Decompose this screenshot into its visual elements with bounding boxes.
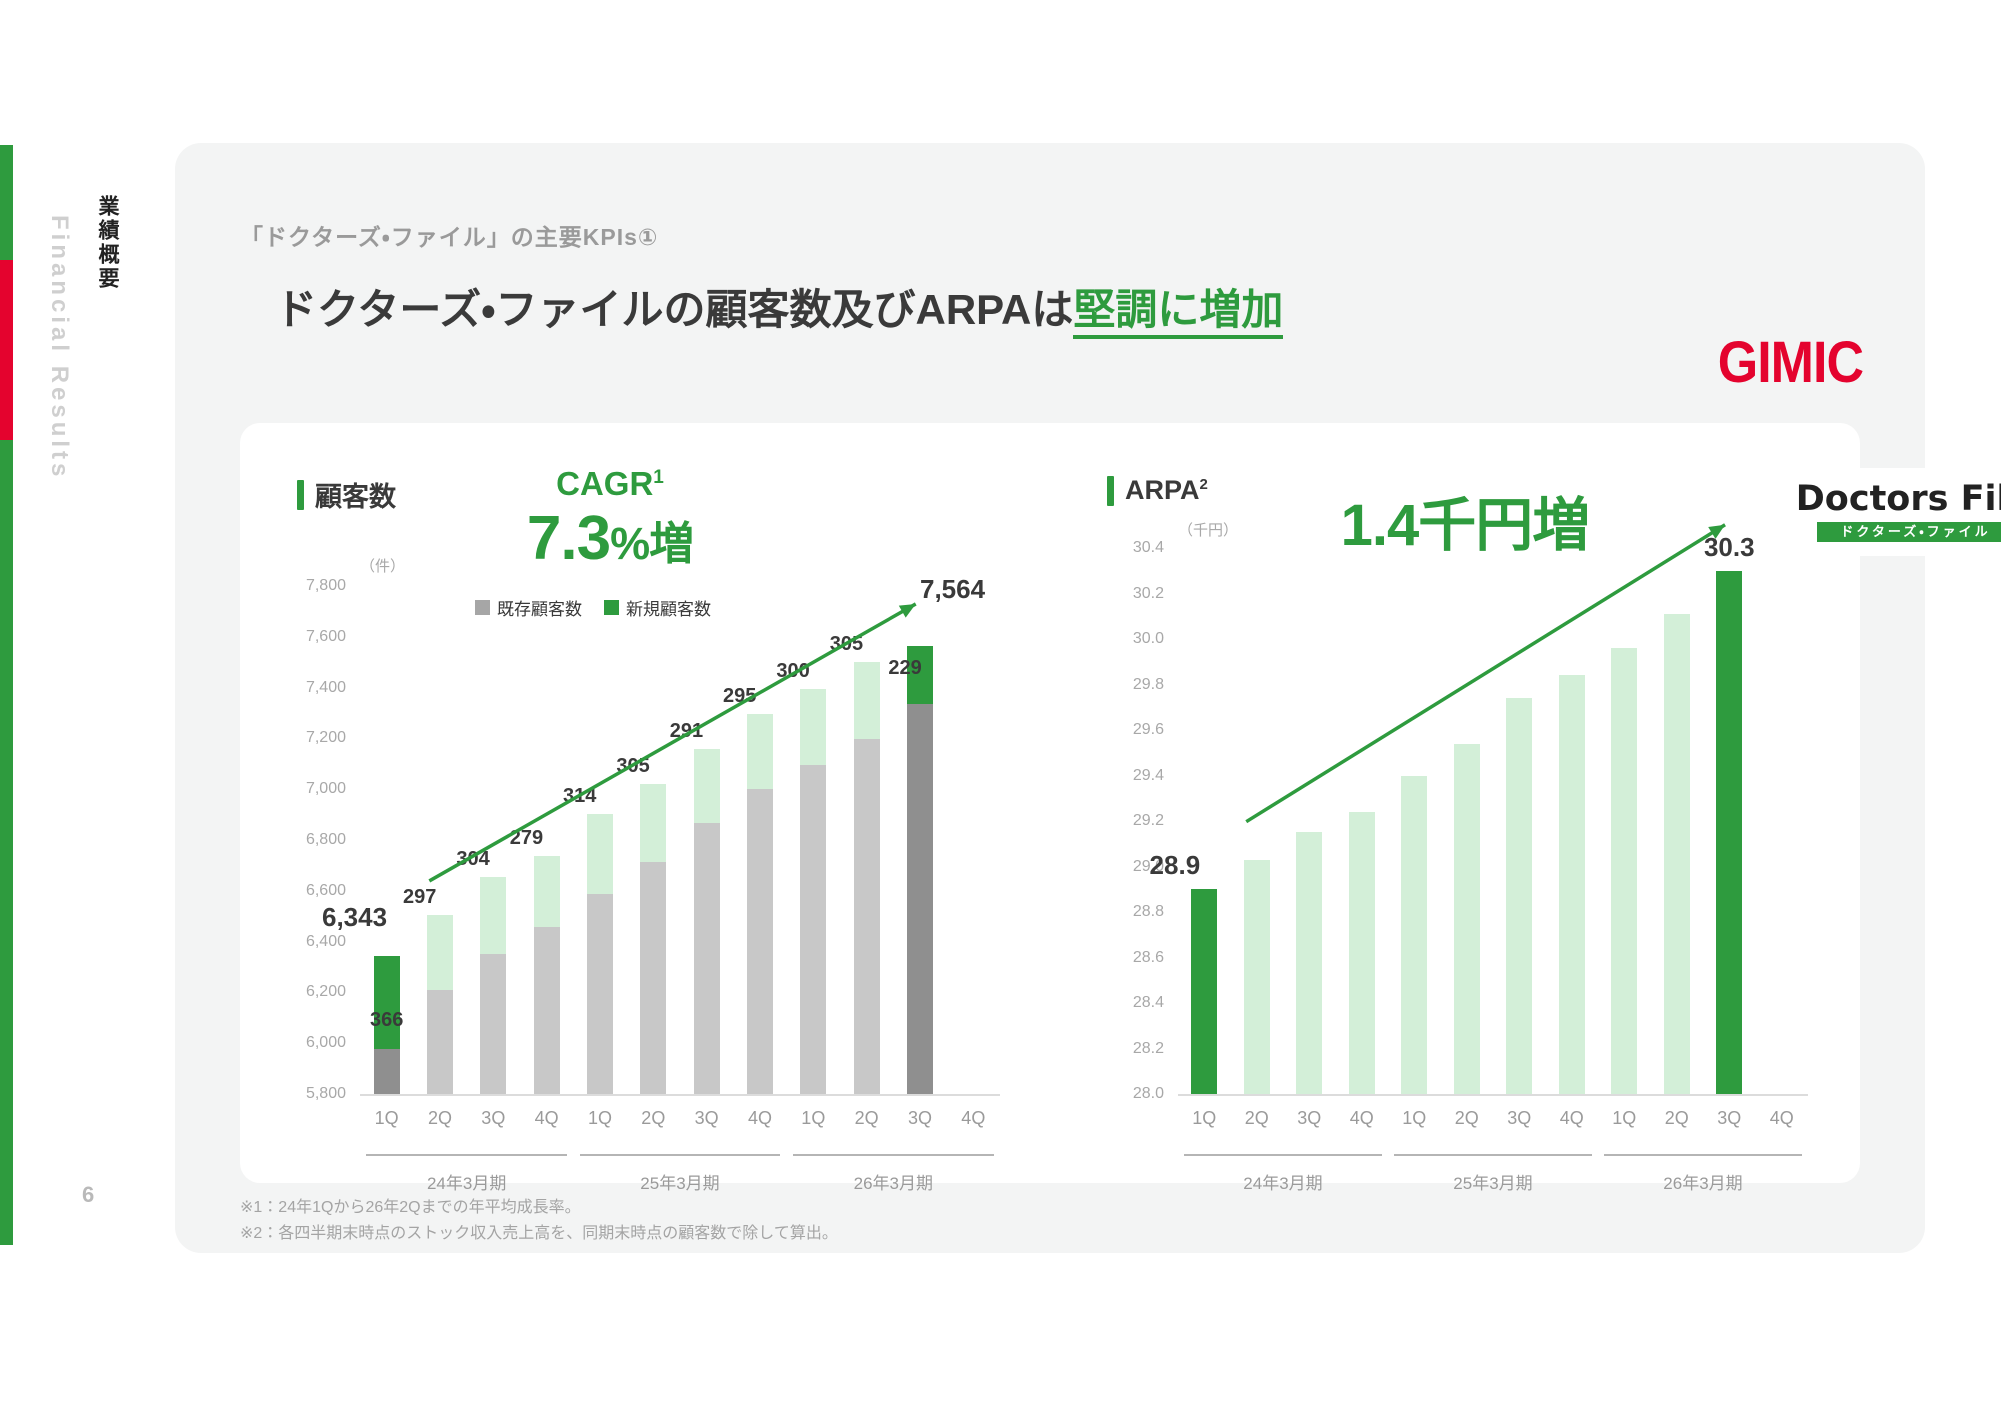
bar-segment-new-customers	[800, 689, 826, 765]
fiscal-year-group: 26年3月期	[1604, 1154, 1801, 1194]
y-axis-tick: 30.0	[1133, 630, 1178, 648]
y-axis-tick: 28.0	[1133, 1085, 1178, 1103]
y-axis-tick: 29.2	[1133, 812, 1178, 830]
bar-data-label: 295	[723, 685, 756, 708]
y-axis-tick: 30.2	[1133, 585, 1178, 603]
bar[interactable]	[1559, 675, 1585, 1094]
bar-slot[interactable]: 1Q	[1388, 548, 1441, 1094]
bar-segment-existing-customers	[534, 927, 560, 1094]
y-axis-tick: 28.6	[1133, 949, 1178, 967]
bar-segment-new-customers	[694, 749, 720, 823]
y-axis-tick: 29.6	[1133, 721, 1178, 739]
arpa-heading-superscript: 2	[1200, 476, 1208, 493]
bar-data-label: 304	[456, 848, 489, 871]
doctors-file-logo-subtitle: ドクターズ・ファイル	[1817, 522, 2001, 542]
bar-segment-existing-customers	[374, 1049, 400, 1094]
y-axis-tick: 6,800	[306, 831, 360, 849]
bar-segment-existing-customers	[640, 862, 666, 1094]
sidebar-section-title-en: Financial Results	[45, 215, 73, 480]
bar-segment-existing-customers	[854, 739, 880, 1094]
cagr-label-superscript: 1	[653, 467, 664, 488]
y-axis-tick: 5,800	[306, 1085, 360, 1103]
bar-slot[interactable]: 30.33Q	[1703, 548, 1756, 1094]
stacked-bar[interactable]	[800, 689, 826, 1094]
stacked-bar[interactable]	[854, 662, 880, 1094]
total-value-label: 7,564	[920, 574, 985, 605]
stacked-bar[interactable]	[694, 749, 720, 1094]
bar-segment-new-customers	[587, 814, 613, 894]
bar-segment-existing-customers	[747, 789, 773, 1094]
bar-slot[interactable]: 4Q	[1546, 548, 1599, 1094]
cagr-label: CAGR1	[480, 465, 740, 503]
x-axis-tick: 4Q	[535, 1108, 559, 1129]
bar[interactable]	[1191, 889, 1217, 1094]
y-axis-tick: 29.4	[1133, 767, 1178, 785]
bar-segment-existing-customers	[587, 894, 613, 1094]
bar-data-label: 291	[670, 720, 703, 743]
x-axis-tick: 1Q	[375, 1108, 399, 1129]
bar-segment-existing-customers	[694, 823, 720, 1094]
fiscal-year-rule	[366, 1154, 567, 1156]
fiscal-year-label: 24年3月期	[1184, 1169, 1381, 1194]
y-axis-tick: 28.8	[1133, 903, 1178, 921]
bar-data-label: 28.9	[1150, 850, 1201, 881]
customer-count-chart: 顧客数 CAGR1 7.3%増 既存顧客数 新規顧客数 （件） 7,8007,6…	[240, 423, 1050, 1183]
y-axis-tick: 7,600	[306, 628, 360, 646]
bar[interactable]	[1401, 776, 1427, 1095]
stacked-bar[interactable]	[480, 877, 506, 1094]
bar-slot[interactable]: 4Q	[1336, 548, 1389, 1094]
bar-data-label: 305	[616, 755, 649, 778]
y-axis-tick: 7,400	[306, 679, 360, 697]
x-axis-tick: 2Q	[1665, 1108, 1689, 1129]
arpa-chart: ARPA2 1.4千円増 （千円） 30.430.230.029.829.629…	[1050, 423, 1860, 1183]
x-axis-tick: 2Q	[641, 1108, 665, 1129]
bar-slot[interactable]: 2293Q	[893, 586, 946, 1094]
cagr-value-suffix: %増	[610, 518, 693, 569]
bar[interactable]	[1716, 571, 1742, 1094]
x-axis-tick: 2Q	[1245, 1108, 1269, 1129]
bar[interactable]	[1664, 614, 1690, 1094]
arpa-unit-label: （千円）	[1178, 519, 1238, 540]
x-axis-tick: 2Q	[1455, 1108, 1479, 1129]
fiscal-year-label: 26年3月期	[1604, 1169, 1801, 1194]
x-axis-tick: 1Q	[1402, 1108, 1426, 1129]
fiscal-year-rule	[1184, 1154, 1381, 1156]
bar-slot[interactable]: 2972Q	[413, 586, 466, 1094]
accent-segment-green-bottom	[0, 440, 13, 1245]
bar-slot[interactable]: 2794Q	[520, 586, 573, 1094]
bar-data-label: 297	[403, 886, 436, 909]
page-number: 6	[82, 1182, 94, 1208]
customer-count-heading: 顧客数	[297, 475, 396, 514]
bar-data-label: 300	[776, 660, 809, 683]
sidebar-section-title-jp: 業績概要	[92, 195, 122, 291]
x-axis-tick: 3Q	[908, 1108, 932, 1129]
fiscal-year-group: 26年3月期	[793, 1154, 994, 1194]
fiscal-year-group: 24年3月期	[1184, 1154, 1381, 1194]
x-axis-tick: 1Q	[588, 1108, 612, 1129]
x-axis-tick: 3Q	[695, 1108, 719, 1129]
bar-segment-new-customers	[640, 784, 666, 861]
stacked-bar[interactable]	[534, 856, 560, 1094]
bar-segment-existing-customers	[427, 990, 453, 1094]
charts-panel: 顧客数 CAGR1 7.3%増 既存顧客数 新規顧客数 （件） 7,8007,6…	[240, 423, 1860, 1183]
bar[interactable]	[1454, 744, 1480, 1094]
x-axis-tick: 4Q	[1770, 1108, 1794, 1129]
bar-slot[interactable]: 2Q	[1651, 548, 1704, 1094]
slide-eyebrow: 「ドクターズ・ファイル」の主要KPIs①	[240, 218, 658, 252]
y-axis-tick: 30.4	[1133, 539, 1178, 557]
fiscal-year-rule	[1394, 1154, 1591, 1156]
bar-segment-existing-customers	[800, 765, 826, 1094]
heading-tick-icon	[297, 480, 304, 510]
cagr-value: 7.3%増	[455, 503, 765, 574]
bar-slot[interactable]: 3001Q	[787, 586, 840, 1094]
fiscal-year-label: 25年3月期	[1394, 1169, 1591, 1194]
bar-data-label: 314	[563, 785, 596, 808]
x-axis-tick: 3Q	[481, 1108, 505, 1129]
bar-slot[interactable]: 2Q	[1441, 548, 1494, 1094]
x-axis-tick: 4Q	[748, 1108, 772, 1129]
arpa-heading-label: ARPA2	[1125, 475, 1208, 506]
stacked-bar[interactable]	[747, 714, 773, 1094]
bar[interactable]	[1506, 698, 1532, 1094]
bar-slot[interactable]: 28.91Q	[1178, 548, 1231, 1094]
bar-segment-existing-customers	[907, 704, 933, 1094]
x-axis-tick: 1Q	[1192, 1108, 1216, 1129]
bar-slot[interactable]: 3052Q	[840, 586, 893, 1094]
bar-slot[interactable]: 2Q	[1231, 548, 1284, 1094]
customer-count-unit-label: （件）	[360, 555, 405, 576]
accent-segment-green-top	[0, 145, 13, 260]
page-title-highlight: 堅調に増加	[1073, 286, 1283, 339]
cagr-label-text: CAGR	[556, 465, 653, 502]
bar-slot[interactable]: 3052Q	[627, 586, 680, 1094]
bar-slot[interactable]: 3141Q	[573, 586, 626, 1094]
x-axis-tick: 2Q	[855, 1108, 879, 1129]
fiscal-year-label: 26年3月期	[793, 1169, 994, 1194]
x-axis-tick: 1Q	[1612, 1108, 1636, 1129]
bar-slot[interactable]: 3Q	[1283, 548, 1336, 1094]
fiscal-year-rule	[793, 1154, 994, 1156]
fiscal-year-rule	[580, 1154, 781, 1156]
x-axis-tick: 3Q	[1297, 1108, 1321, 1129]
fiscal-year-label: 25年3月期	[580, 1169, 781, 1194]
y-axis-tick: 28.4	[1133, 994, 1178, 1012]
total-value-label: 6,343	[322, 902, 387, 933]
customer-count-plot: 7,8007,6007,4007,2007,0006,8006,6006,400…	[360, 586, 1000, 1096]
fiscal-year-rule	[1604, 1154, 1801, 1156]
arpa-heading: ARPA2	[1107, 475, 1208, 506]
doctors-file-logo-title: Doctors File	[1796, 482, 2001, 517]
footnotes: ※1：24年1Qから26年2Qまでの年平均成長率。 ※2：各四半期末時点のストッ…	[240, 1195, 838, 1248]
bar-slot[interactable]: 2913Q	[680, 586, 733, 1094]
heading-tick-icon	[1107, 476, 1114, 506]
arpa-heading-text: ARPA	[1125, 475, 1200, 505]
bar-data-label: 305	[830, 633, 863, 656]
bar-segment-new-customers	[427, 915, 453, 990]
y-axis-tick: 29.8	[1133, 676, 1178, 694]
bar[interactable]	[1244, 860, 1270, 1094]
y-axis-tick: 6,400	[306, 933, 360, 951]
y-axis-tick: 6,600	[306, 882, 360, 900]
bar-segment-new-customers	[747, 714, 773, 789]
fiscal-year-label: 24年3月期	[366, 1169, 567, 1194]
y-axis-tick: 7,800	[306, 577, 360, 595]
footnote-2: ※2：各四半期末時点のストック収入売上高を、同期末時点の顧客数で除して算出。	[240, 1221, 838, 1247]
y-axis-tick: 7,200	[306, 729, 360, 747]
y-axis-tick: 7,000	[306, 780, 360, 798]
slide-card: 「ドクターズ・ファイル」の主要KPIs① ドクターズ・ファイルの顧客数及びARP…	[175, 143, 1925, 1253]
bar[interactable]	[1349, 812, 1375, 1094]
bar-data-label: 229	[888, 657, 921, 680]
bar-data-label: 279	[510, 827, 543, 850]
stacked-bar[interactable]	[640, 784, 666, 1094]
bar-segment-new-customers	[854, 662, 880, 739]
stacked-bar[interactable]	[907, 646, 933, 1094]
footnote-1: ※1：24年1Qから26年2Qまでの年平均成長率。	[240, 1195, 838, 1221]
stacked-bar[interactable]	[427, 915, 453, 1094]
bar-data-label: 366	[370, 1009, 403, 1032]
bar-slot[interactable]: 3Q	[1493, 548, 1546, 1094]
customer-count-heading-label: 顧客数	[315, 475, 396, 514]
bar-segment-new-customers	[374, 956, 400, 1049]
accent-segment-red	[0, 260, 13, 440]
y-axis-tick: 28.2	[1133, 1040, 1178, 1058]
doctors-file-logo: Doctors File ドクターズ・ファイル	[1775, 468, 2001, 556]
bar-segment-existing-customers	[480, 954, 506, 1094]
x-axis-tick: 2Q	[428, 1108, 452, 1129]
page-title-plain: ドクターズ・ファイルの顧客数及びARPAは	[275, 286, 1073, 333]
x-axis-tick: 3Q	[1507, 1108, 1531, 1129]
fiscal-year-group: 25年3月期	[1394, 1154, 1591, 1194]
x-axis-tick: 3Q	[1717, 1108, 1741, 1129]
x-axis-tick: 4Q	[961, 1108, 985, 1129]
page-title: ドクターズ・ファイルの顧客数及びARPAは堅調に増加	[275, 276, 1283, 337]
fiscal-year-group: 25年3月期	[580, 1154, 781, 1194]
bar-segment-new-customers	[534, 856, 560, 927]
y-axis-tick: 6,200	[306, 983, 360, 1001]
bar[interactable]	[1296, 832, 1322, 1094]
fiscal-year-group: 24年3月期	[366, 1154, 567, 1194]
x-axis-tick: 4Q	[1350, 1108, 1374, 1129]
x-axis-tick: 4Q	[1560, 1108, 1584, 1129]
bar-slot[interactable]: 1Q	[1598, 548, 1651, 1094]
gimic-logo: GIMIC	[1718, 329, 1863, 396]
x-axis-tick: 1Q	[801, 1108, 825, 1129]
cagr-value-number: 7.3	[527, 504, 610, 573]
bar-slot[interactable]: 3661Q	[360, 586, 413, 1094]
y-axis-tick: 6,000	[306, 1034, 360, 1052]
brand-accent-bar	[0, 145, 13, 1245]
bar-segment-new-customers	[480, 877, 506, 954]
stacked-bar[interactable]	[587, 814, 613, 1094]
bar[interactable]	[1611, 648, 1637, 1094]
arpa-plot: 30.430.230.029.829.629.429.229.028.828.6…	[1178, 548, 1808, 1096]
bar-slot[interactable]: 4Q	[1756, 548, 1809, 1094]
bar-slot[interactable]: 4Q	[947, 586, 1000, 1094]
bar-data-label: 30.3	[1704, 532, 1755, 563]
